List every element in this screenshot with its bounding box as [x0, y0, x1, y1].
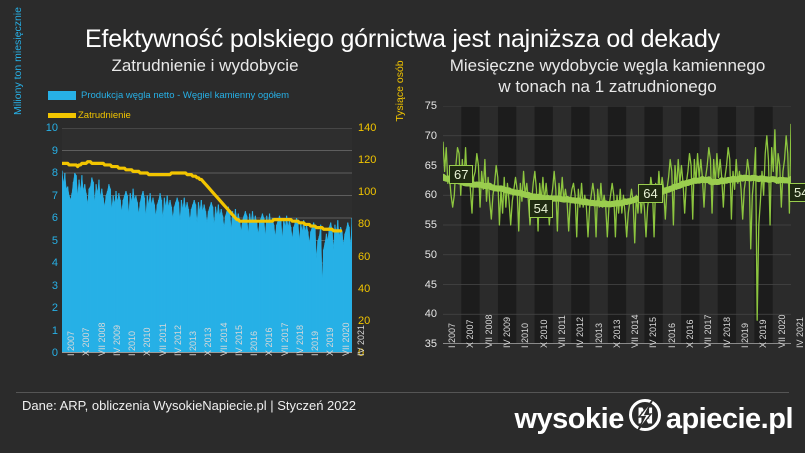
right-chart-y-tick: 50 [405, 249, 437, 261]
right-chart-x-tick: X 2013 [612, 319, 622, 348]
right-chart-x-tick: VII 2014 [630, 314, 640, 348]
left-chart-y-tick: 9 [20, 145, 58, 157]
right-chart-annotation: 64 [638, 184, 662, 203]
legend-item-production: Produkcja węgla netto - Węgiel kamienny … [48, 88, 289, 103]
right-chart-x-tick: IV 2021 [795, 317, 805, 348]
footer-divider [16, 392, 789, 393]
right-chart-y-tick: 55 [405, 219, 437, 231]
left-chart-y2-tick: 100 [358, 186, 388, 198]
legend-label-production: Produkcja węgla netto - Węgiel kamienny … [81, 90, 289, 101]
right-chart-x-tick: I 2013 [594, 323, 604, 348]
left-chart-x-tick: I 2007 [66, 331, 76, 356]
left-chart-y-tick: 0 [20, 347, 58, 359]
left-chart-x-tick: VII 2008 [97, 322, 107, 356]
left-chart-x-tick: X 2010 [142, 327, 152, 356]
left-chart-x-tick: X 2016 [264, 327, 274, 356]
left-chart-x-tick: X 2019 [325, 327, 335, 356]
right-chart-x-tick: IV 2012 [575, 317, 585, 348]
left-chart-y-tick: 3 [20, 280, 58, 292]
left-chart-x-tick: IV 2012 [173, 325, 183, 356]
right-chart-x-tick: IV 2009 [502, 317, 512, 348]
left-chart-x-tick: VII 2020 [341, 322, 351, 356]
left-chart-x-tick: I 2016 [249, 331, 259, 356]
left-chart-y-tick: 7 [20, 190, 58, 202]
left-chart-x-tick: I 2013 [188, 331, 198, 356]
right-chart-y-tick: 60 [405, 189, 437, 201]
infographic-root: Efektywność polskiego górnictwa jest naj… [0, 0, 805, 453]
right-chart-title: Miesięczne wydobycie węgla kamiennego w … [410, 55, 805, 97]
left-chart-y2-tick: 40 [358, 283, 388, 295]
left-chart-x-tick: IV 2015 [234, 325, 244, 356]
left-chart: Miliony ton miesięcznie Tysiące osób 012… [20, 118, 400, 358]
right-chart: 354045505560657075 67546454 I 2007X 2007… [405, 98, 800, 358]
right-chart-annotation: 54 [529, 199, 553, 218]
left-chart-x-tick: IV 2018 [295, 325, 305, 356]
left-chart-y-tick: 10 [20, 122, 58, 134]
left-chart-x-tick: IV 2021 [356, 325, 366, 356]
left-chart-y-tick: 6 [20, 212, 58, 224]
left-chart-y-tick: 5 [20, 235, 58, 247]
left-chart-x-tick: X 2007 [81, 327, 91, 356]
right-chart-x-tick: VII 2020 [777, 314, 787, 348]
right-chart-x-tick: VII 2017 [703, 314, 713, 348]
right-chart-y-tick: 45 [405, 279, 437, 291]
right-chart-y-tick: 70 [405, 130, 437, 142]
right-chart-annotation: 67 [449, 165, 473, 184]
left-chart-title: Zatrudnienie i wydobycie [20, 55, 390, 76]
logo-text-post: apiecie.pl [666, 403, 793, 436]
wysokienapiecie-logo[interactable]: wysokie N apiecie.pl [514, 395, 793, 443]
right-chart-x-tick: I 2007 [447, 323, 457, 348]
left-chart-y2-tick: 80 [358, 218, 388, 230]
right-chart-x-tick: X 2016 [685, 319, 695, 348]
left-chart-x-tick: VII 2017 [280, 322, 290, 356]
right-chart-x-tick: VII 2011 [557, 315, 567, 348]
left-chart-x-tick: X 2013 [203, 327, 213, 356]
left-chart-x-tick: IV 2009 [112, 325, 122, 356]
right-chart-annotation: 54 [789, 183, 805, 202]
logo-lightning-n-icon: N [625, 395, 665, 443]
right-chart-x-tick: I 2019 [740, 323, 750, 348]
left-chart-x-tick: I 2019 [310, 331, 320, 356]
right-chart-x-tick: VII 2008 [484, 314, 494, 348]
left-chart-y-tick: 2 [20, 302, 58, 314]
left-chart-x-tick: I 2010 [127, 331, 137, 356]
right-chart-svg [443, 106, 791, 344]
right-chart-title-line1: Miesięczne wydobycie węgla kamiennego [410, 55, 805, 76]
left-chart-x-tick: VII 2011 [158, 323, 168, 356]
left-chart-y2-tick: 140 [358, 122, 388, 134]
right-chart-x-tick: X 2019 [758, 319, 768, 348]
right-chart-y-tick: 65 [405, 160, 437, 172]
right-chart-plot-area: 67546454 [443, 106, 791, 344]
right-chart-y-tick: 35 [405, 338, 437, 350]
left-chart-y-tick: 8 [20, 167, 58, 179]
left-chart-svg [62, 128, 352, 353]
left-chart-y-tick: 4 [20, 257, 58, 269]
right-chart-title-line2: w tonach na 1 zatrudnionego [410, 76, 805, 97]
right-chart-x-tick: IV 2018 [722, 317, 732, 348]
right-chart-y-tick: 75 [405, 100, 437, 112]
left-chart-y2-tick: 120 [358, 154, 388, 166]
source-note: Dane: ARP, obliczenia WysokieNapiecie.pl… [22, 398, 356, 413]
legend-swatch-bar-icon [48, 91, 76, 100]
right-chart-x-tick: IV 2015 [648, 317, 658, 348]
right-chart-x-tick: X 2010 [539, 319, 549, 348]
left-chart-x-tick: VII 2014 [219, 322, 229, 356]
right-chart-x-tick: I 2010 [520, 323, 530, 348]
left-chart-y2-tick: 60 [358, 251, 388, 263]
right-chart-y-tick: 40 [405, 308, 437, 320]
left-chart-y-tick: 1 [20, 325, 58, 337]
right-chart-x-tick: X 2007 [465, 319, 475, 348]
logo-text-pre: wysokie [514, 403, 623, 436]
left-chart-plot-area [62, 128, 352, 353]
right-chart-x-tick: I 2016 [667, 323, 677, 348]
